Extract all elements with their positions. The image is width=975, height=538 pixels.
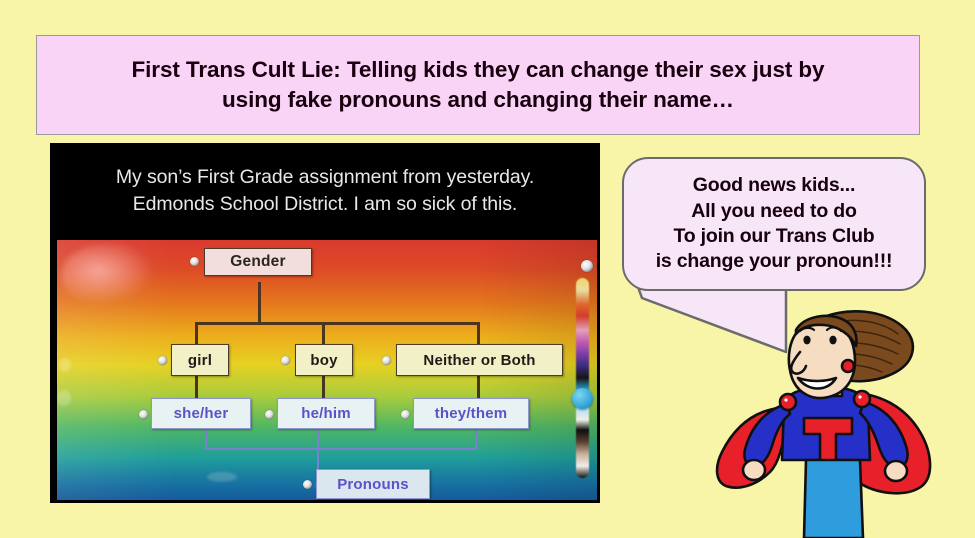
eye-right [829,336,836,345]
diagram-node-label: boy [310,352,337,369]
edge-pronoun-bus [205,448,477,450]
diagram-node-she-her: she/her [151,398,251,429]
edge-neither-to-theythem [477,375,480,400]
skirt [804,460,863,538]
edge-boy-to-hehim [322,375,325,400]
diagram-node-boy: boy [295,344,353,376]
diagram-node-label: girl [188,352,212,369]
cape-clasp-right [854,391,870,407]
earring [842,360,854,372]
diagram-node-label: they/them [435,405,508,422]
speech-bubble-text: Good news kids... All you need to do To … [656,173,893,274]
hand-left [743,460,765,480]
node-bullet-dot [581,260,593,272]
clasp-highlight-left [784,398,787,401]
photo-caption-text: My son’s First Grade assignment from yes… [116,164,534,216]
diagram-node-label: he/him [301,405,351,422]
edge-horizontal-bus [195,322,479,325]
diagram-node-label: she/her [174,405,229,422]
color-picker-knob[interactable] [572,388,593,409]
edge-gender-to-row [258,282,261,324]
photo-artifact-dot [57,390,71,406]
hand-right [885,461,907,481]
edge-bus-to-neither [477,322,480,344]
node-bullet-dot [401,410,410,419]
node-bullet-dot [139,410,148,419]
edge-bus-to-pronouns [317,448,319,470]
diagram-node-they-them: they/them [413,398,529,429]
page-title: First Trans Cult Lie: Telling kids they … [118,55,839,114]
edge-girl-to-sheher [195,375,198,400]
diagram-node-label: Gender [230,253,285,271]
worksheet-photo: Gender girl boy Neither or Both she/her … [57,240,597,500]
node-bullet-dot [281,356,290,365]
diagram-node-label: Neither or Both [423,352,535,369]
eye-left [803,336,810,345]
diagram-node-he-him: he/him [277,398,375,429]
cape-clasp-left [780,394,796,410]
diagram-node-gender: Gender [204,248,312,276]
edge-sheher-down [205,428,207,450]
diagram-node-girl: girl [171,344,229,376]
diagram-node-neither-or-both: Neither or Both [396,344,563,376]
header-banner: First Trans Cult Lie: Telling kids they … [36,35,920,135]
diagram-node-label: Pronouns [337,476,409,493]
clasp-highlight-right [858,395,861,398]
node-bullet-dot [303,480,312,489]
color-picker-strip[interactable] [576,278,589,478]
edge-bus-to-boy [322,322,325,344]
node-bullet-dot [190,257,199,266]
photo-caption: My son’s First Grade assignment from yes… [50,143,600,238]
node-bullet-dot [382,356,391,365]
node-bullet-dot [158,356,167,365]
photo-artifact-dot [59,358,71,372]
photo-panel: My son’s First Grade assignment from yes… [50,143,600,503]
edge-theythem-down [475,428,477,450]
node-bullet-dot [265,410,274,419]
speech-bubble: Good news kids... All you need to do To … [622,157,926,291]
edge-bus-to-girl [195,322,198,344]
diagram-node-pronouns: Pronouns [316,469,430,499]
